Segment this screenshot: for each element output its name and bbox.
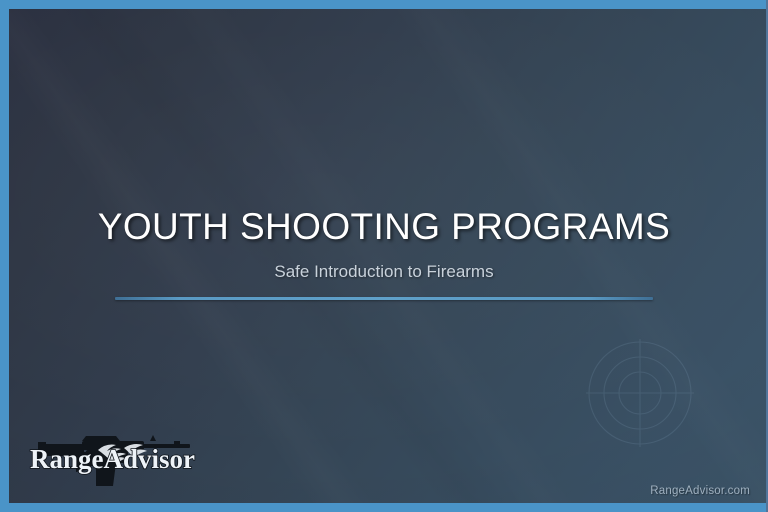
title-slide: YOUTH SHOOTING PROGRAMS Safe Introductio… (0, 0, 768, 512)
accent-border-top (0, 0, 768, 9)
footer-url: RangeAdvisor.com (650, 485, 750, 497)
page-subtitle: Safe Introduction to Firearms (0, 262, 768, 282)
logo-wordmark: RangeAdvisor (30, 444, 195, 474)
page-title: YOUTH SHOOTING PROGRAMS (0, 206, 768, 249)
rangeadvisor-logo: RangeAdvisor (24, 428, 196, 490)
title-divider (115, 297, 653, 300)
accent-border-bottom (0, 503, 768, 512)
title-block: YOUTH SHOOTING PROGRAMS Safe Introductio… (0, 206, 768, 300)
